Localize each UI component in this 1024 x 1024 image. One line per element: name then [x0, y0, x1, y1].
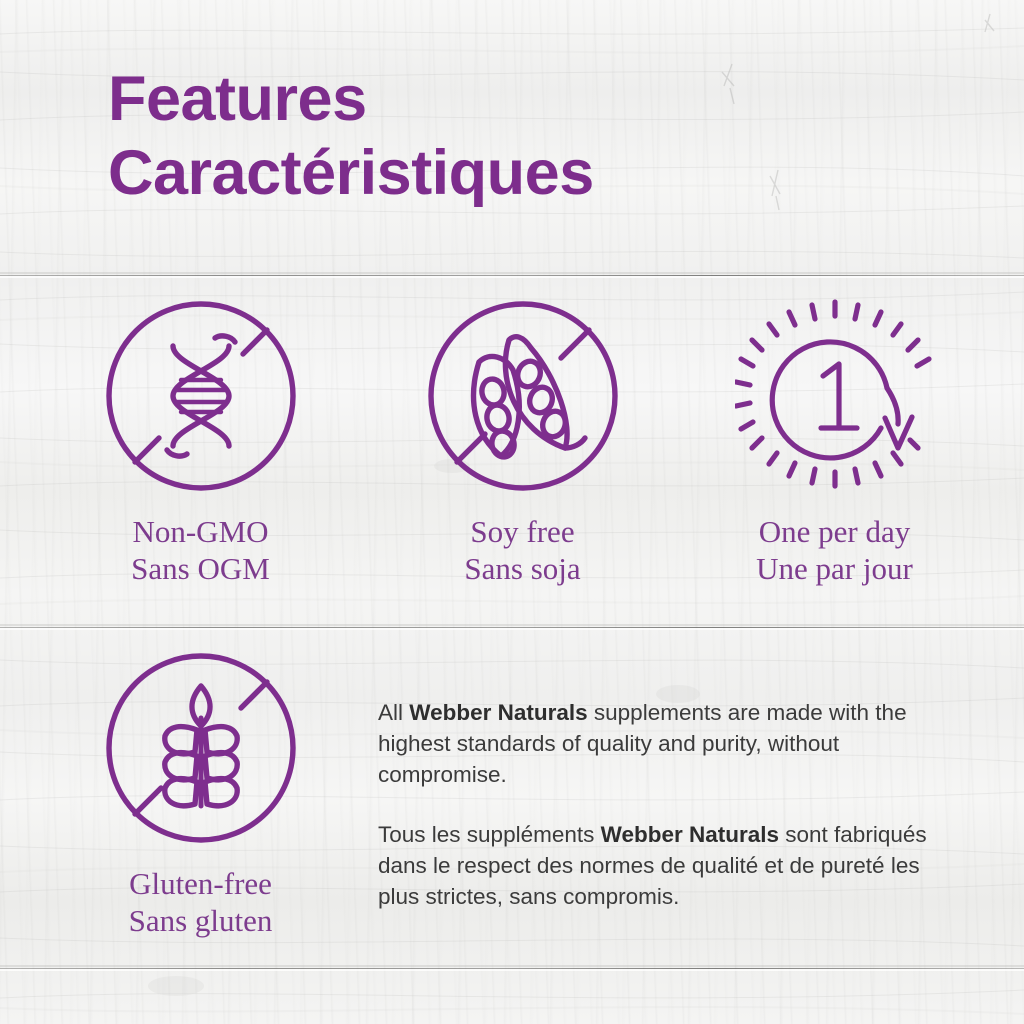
feature-soy-free-label: Soy free Sans soja [400, 513, 645, 587]
quality-statement-fr: Tous les suppléments Webber Naturals son… [378, 819, 938, 912]
wheat-no-icon [101, 648, 301, 848]
feature-one-per-day-label-en: One per day [712, 513, 957, 550]
feature-non-gmo-label-en: Non-GMO [78, 513, 323, 550]
feature-gluten-free-label-fr: Sans gluten [78, 902, 323, 939]
feature-soy-free-label-en: Soy free [400, 513, 645, 550]
page-title-fr: Caractéristiques [108, 136, 888, 210]
feature-non-gmo-label: Non-GMO Sans OGM [78, 513, 323, 587]
feature-non-gmo: Non-GMO Sans OGM [78, 296, 323, 587]
brand-name-en: Webber Naturals [409, 700, 587, 725]
copy-fr-before: Tous les suppléments [378, 822, 601, 847]
features-panel: Features Caractéristiques [0, 0, 1024, 1024]
feature-one-per-day-label-fr: Une par jour [712, 550, 957, 587]
page-title: Features Caractéristiques [108, 62, 888, 210]
feature-soy-free: Soy free Sans soja [400, 296, 645, 587]
one-per-day-icon [735, 296, 935, 496]
feature-one-per-day-label: One per day Une par jour [712, 513, 957, 587]
copy-en-before: All [378, 700, 409, 725]
feature-one-per-day: One per day Une par jour [712, 296, 957, 587]
feature-gluten-free-label: Gluten-free Sans gluten [78, 865, 323, 939]
quality-statement: All Webber Naturals supplements are made… [378, 697, 938, 912]
page-title-en: Features [108, 62, 888, 136]
soy-pod-no-icon [423, 296, 623, 496]
feature-gluten-free-label-en: Gluten-free [78, 865, 323, 902]
feature-non-gmo-label-fr: Sans OGM [78, 550, 323, 587]
quality-statement-en: All Webber Naturals supplements are made… [378, 697, 938, 790]
feature-soy-free-label-fr: Sans soja [400, 550, 645, 587]
feature-gluten-free: Gluten-free Sans gluten [78, 648, 323, 939]
dna-no-icon [101, 296, 301, 496]
brand-name-fr: Webber Naturals [601, 822, 779, 847]
